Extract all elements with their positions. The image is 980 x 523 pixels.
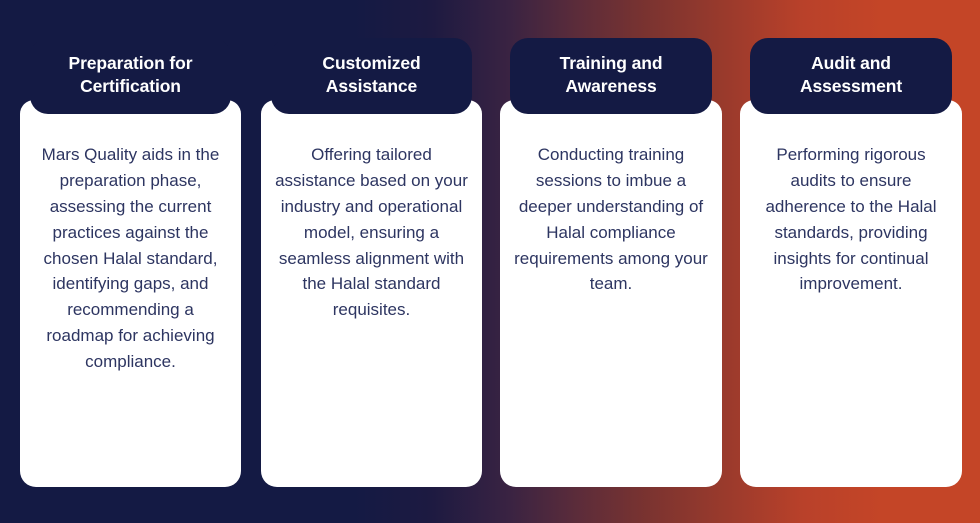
card-preparation-for-certification[interactable]: Preparation for Certification Mars Quali…: [20, 38, 241, 487]
card-body: Mars Quality aids in the preparation pha…: [20, 100, 241, 487]
card-customized-assistance[interactable]: Customized Assistance Offering tailored …: [261, 38, 482, 487]
card-title: Customized Assistance: [322, 52, 420, 98]
infographic-canvas: Preparation for Certification Mars Quali…: [0, 0, 980, 523]
card-body: Conducting training sessions to imbue a …: [500, 100, 722, 487]
card-training-and-awareness[interactable]: Training and Awareness Conducting traini…: [500, 38, 722, 487]
card-header: Audit and Assessment: [750, 38, 952, 114]
card-header: Preparation for Certification: [30, 38, 231, 114]
card-description: Offering tailored assistance based on yo…: [275, 142, 468, 471]
card-title: Training and Awareness: [560, 52, 663, 98]
cards-row: Preparation for Certification Mars Quali…: [0, 0, 980, 523]
card-header: Training and Awareness: [510, 38, 712, 114]
card-audit-and-assessment[interactable]: Audit and Assessment Performing rigorous…: [740, 38, 962, 487]
card-body: Performing rigorous audits to ensure adh…: [740, 100, 962, 487]
card-description: Mars Quality aids in the preparation pha…: [34, 142, 227, 471]
card-title: Preparation for Certification: [69, 52, 193, 98]
card-body: Offering tailored assistance based on yo…: [261, 100, 482, 487]
card-title: Audit and Assessment: [800, 52, 902, 98]
card-description: Performing rigorous audits to ensure adh…: [754, 142, 948, 471]
card-description: Conducting training sessions to imbue a …: [514, 142, 708, 471]
card-header: Customized Assistance: [271, 38, 472, 114]
